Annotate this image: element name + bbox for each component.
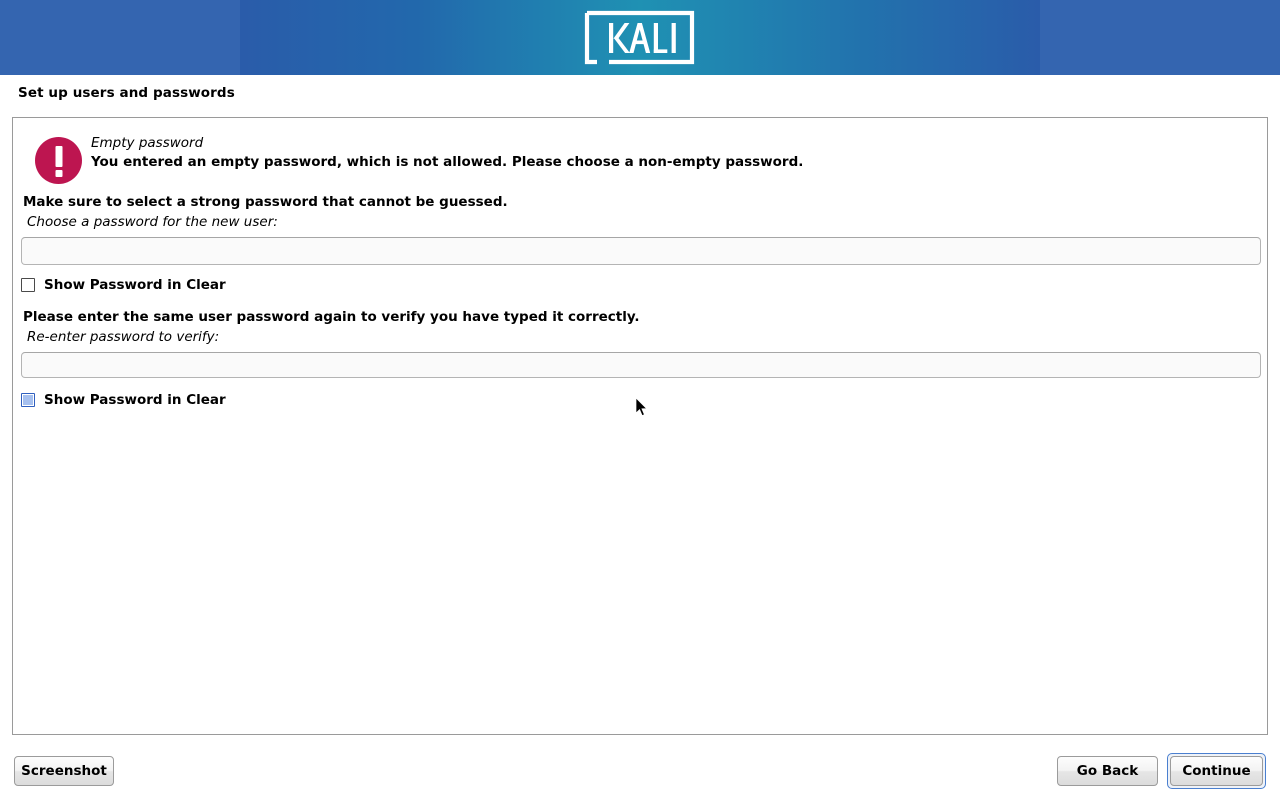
installer-window: Set up users and passwords Empty passwor… — [0, 0, 1280, 800]
main-panel: Empty password You entered an empty pass… — [12, 117, 1268, 735]
kali-logo — [583, 9, 696, 66]
show-password-label-2: Show Password in Clear — [44, 392, 226, 408]
exclamation-bar — [55, 146, 62, 167]
error-message: You entered an empty password, which is … — [91, 154, 803, 170]
continue-button-focus-ring: Continue — [1167, 753, 1266, 789]
show-password-label-1: Show Password in Clear — [44, 277, 226, 293]
password-hint: Make sure to select a strong password th… — [23, 194, 508, 210]
error-title: Empty password — [91, 135, 203, 151]
error-exclamation-icon — [35, 137, 82, 184]
show-password-checkbox-1[interactable]: Show Password in Clear — [21, 275, 226, 295]
show-password-checkbox-2[interactable]: Show Password in Clear — [21, 390, 226, 410]
password-input[interactable] — [21, 237, 1261, 265]
screenshot-button[interactable]: Screenshot — [14, 756, 114, 786]
verify-label: Re-enter password to verify: — [27, 329, 219, 345]
exclamation-dot — [55, 170, 62, 177]
go-back-button[interactable]: Go Back — [1057, 756, 1158, 786]
continue-button[interactable]: Continue — [1170, 756, 1263, 786]
page-title: Set up users and passwords — [18, 85, 235, 101]
kali-banner — [0, 0, 1280, 75]
verify-password-input[interactable] — [21, 352, 1261, 378]
verify-hint: Please enter the same user password agai… — [23, 309, 640, 325]
error-notice: Empty password You entered an empty pass… — [23, 126, 1253, 188]
password-label: Choose a password for the new user: — [27, 214, 278, 230]
checkbox-box[interactable] — [21, 278, 35, 292]
checkbox-box[interactable] — [21, 393, 35, 407]
